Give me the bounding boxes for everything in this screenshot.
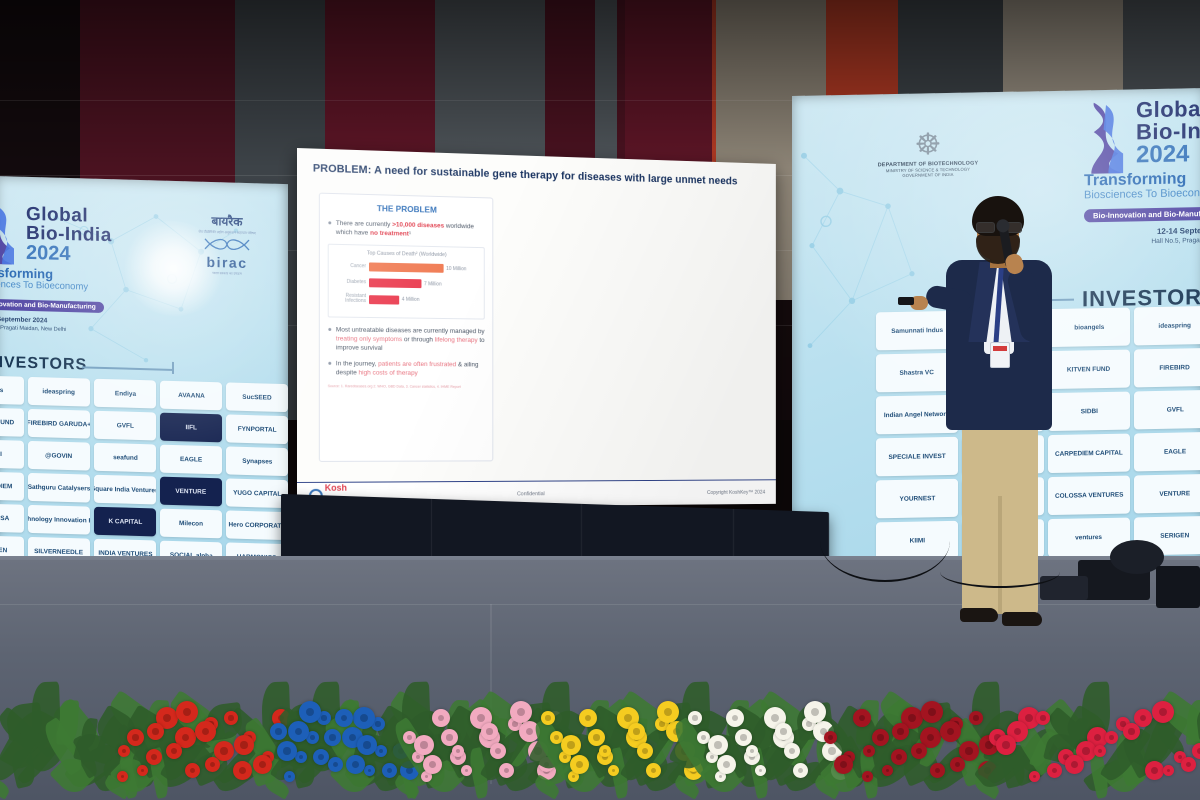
flower-bloom [146,749,162,765]
flower-bloom [510,701,532,723]
dna-helix-icon [201,235,253,254]
flower-bloom [147,723,164,740]
flower-arrangement [0,665,1200,800]
flower-bloom [414,735,434,755]
sponsor-logo-label: YUGO CAPITAL [232,488,282,498]
flower-bloom [891,749,907,765]
flower-bloom [579,709,597,727]
sponsor-logo-label: IIFL [184,423,197,432]
confidential-label: Confidential [347,490,707,498]
sponsor-logo-tile: GVFL [1134,390,1200,430]
sponsor-logo-tile: KITVEN FUND [0,407,24,437]
sponsor-logo-label: VENTURE [1159,489,1192,498]
flower-bloom [1123,723,1140,740]
flower-bloom [588,729,605,746]
flower-bloom [570,755,589,774]
flower-bloom [950,757,965,772]
sponsor-logo-label: Synapses [241,457,273,466]
flower-bloom [775,723,792,740]
sponsor-logo-tile: FYNPORTAL [226,414,288,444]
flower-bloom [452,745,464,757]
flower-bloom [270,723,287,740]
sponsor-logo-label: Endiya [114,389,137,398]
sponsor-logo-tile: seafund [94,443,156,473]
copyright-label: Copyright KoshKey™ 2024 [707,489,765,495]
sponsor-logo-label: Technology Innovation Hub [28,514,90,525]
flower-bloom [357,735,377,755]
flower-bloom [1181,757,1196,772]
flower-bloom [423,755,442,774]
sponsor-logo-tile: Technology Innovation Hub [28,505,90,535]
sponsor-logo-tile: angels [0,375,24,405]
flower-bed [980,680,1200,800]
stage-cable [820,500,950,582]
sponsor-logo-tile: VENTURE [160,477,222,507]
chart-bar-value: 7 Million [421,281,442,287]
sponsor-logo-tile: COLOSSA [0,503,24,533]
flower-bloom [882,765,893,776]
flower-bloom [608,765,619,776]
bullet-text-span: treating only symptoms [336,335,402,343]
flower-bloom [176,701,198,723]
sponsor-logo-label: FYNPORTAL [237,425,278,434]
gbi-year: 2024 [1136,140,1200,167]
sponsor-logo-label: COLOSSA [0,513,10,522]
sponsor-logo-tile: EAGLE [1134,432,1200,472]
sponsor-logo-label: SPECIALE INVEST [887,452,946,461]
sponsor-logo-tile: Hero CORPORATE [226,510,288,540]
flower-bloom [284,771,295,782]
flower-bloom [1145,761,1164,780]
gbi-logo-lockup-right: Global Bio-India 2024 Transforming Biosc… [1084,96,1200,246]
sponsor-logo-tile: CARPEDIEM [0,471,24,501]
bullet-dot-icon: ● [328,325,332,352]
sponsor-logo-label: AVAANA [177,391,205,400]
gbi-tagline-line2: Biosciences To Bioeconomy [1084,186,1200,202]
gbi-helix-icon [1084,100,1128,177]
flower-bloom [195,721,216,742]
flower-bloom [490,743,506,759]
flower-bloom [328,757,343,772]
chart-bar-value: 10 Million [443,266,466,272]
chart-bar-row: Diabetes7 Million [333,278,480,289]
problem-card: THE PROBLEM ● There are currently >10,00… [319,193,493,462]
flower-bloom [863,745,875,757]
slide-title: PROBLEM: A need for sustainable gene the… [313,163,762,189]
flower-bloom [127,729,144,746]
sponsor-logo-label: CARPEDIEM [0,481,13,490]
sponsor-logo-label: Samunnati Indus [890,326,944,335]
sponsor-logo-label: KITVEN FUND [0,417,16,427]
flower-bloom [335,709,353,727]
flower-bloom [1192,743,1200,759]
card-heading: THE PROBLEM [328,202,485,216]
projection-screen: PROBLEM: A need for sustainable gene the… [297,148,776,508]
flower-bloom [996,735,1016,755]
sponsor-logo-tile: ideaspring [28,377,90,407]
flower-bloom [862,771,873,782]
flower-bloom [324,729,341,746]
flower-bloom [824,731,837,744]
flower-bloom [353,707,375,729]
sponsor-logo-label: Square India Ventures [94,484,156,494]
flower-bloom [299,701,321,723]
bullet-item: ● There are currently >10,000 diseases w… [328,219,485,241]
auditorium-scene: Global Bio-India 2024 Transforming Biosc… [0,0,1200,800]
flower-bloom [166,743,182,759]
flower-bed [820,680,1000,800]
stage-cable [940,556,1060,588]
bullet-text-span: patients are often frustrated [378,361,456,369]
sponsor-logo-tile: Square India Ventures [94,475,156,505]
sponsor-logo-label: SucSEED [241,393,272,402]
flower-bloom [746,745,758,757]
sponsor-logo-tile: IIFL [160,413,222,443]
sponsor-logo-tile: YUGO CAPITAL [226,478,288,508]
speaker-badge [990,342,1010,368]
flower-bloom [911,743,927,759]
sponsor-logo-label: Hero CORPORATE [228,520,287,530]
sponsor-logo-label: VENTURE [175,487,208,496]
sponsor-logo-tile: K CAPITAL [94,507,156,537]
flower-bloom [137,765,148,776]
chart-bar [369,263,443,273]
flower-bloom [541,711,555,725]
bullet-text-span: There are currently [336,220,392,228]
flower-bloom [793,763,808,778]
flower-bloom [205,757,220,772]
sponsor-logo-tile: EAGLE [160,445,222,475]
flower-bloom [313,749,329,765]
sponsor-logo-label: Sathguru Catalysers [28,483,90,493]
flower-bloom [233,761,252,780]
sponsor-logo-tile: ideaspring [1134,306,1200,346]
causes-of-death-chart: Top Causes of Death² (Worldwide) Cancer1… [328,244,485,319]
flower-bloom [1047,763,1062,778]
birac-logo-left: बायरैक जैव प्रौद्योगिकी उद्योग अनुसंधान … [182,211,272,277]
sponsor-logo-label: FIREBIRD GARUDA+ [28,419,90,429]
gbi-pill-right: Bio-Innovation and Bio-Manufacturing [1084,207,1200,223]
flower-bloom [118,745,130,757]
sponsor-logo-label: EAGLE [179,455,203,464]
flower-bloom [1029,771,1040,782]
bullet-text-span: or through [402,336,435,343]
flower-bloom [481,723,498,740]
flower-bloom [930,763,945,778]
flower-bloom [382,763,397,778]
flower-bloom [461,765,472,776]
flower-bloom [1163,765,1174,776]
flower-bloom [277,741,297,761]
flower-bloom [288,721,309,742]
banner-left: Global Bio-India 2024 Transforming Biosc… [0,176,288,604]
sponsor-logo-label: FIREBIRD [1159,363,1191,372]
sponsor-logo-label: ideaspring [1158,321,1192,330]
flower-bloom [872,729,889,746]
flower-bloom [755,765,766,776]
flower-bloom [892,723,909,740]
flower-bloom [441,729,458,746]
sponsor-logo-tile: AVAANA [160,381,222,411]
presentation-clicker [898,297,914,305]
chart-bar-row: Cancer10 Million [333,262,480,274]
sponsor-logo-label: Milecon [178,519,204,528]
flower-bloom [717,755,736,774]
speaker-shoe-right [1002,612,1042,626]
sponsor-logo-label: SERIGEN [0,545,8,554]
stage-equipment [1156,566,1200,608]
flower-bloom [1105,731,1118,744]
bullet-text-span: ¹ [409,231,411,238]
dbt-emblem-block: ☸ DEPARTMENT OF BIOTECHNOLOGY MINISTRY O… [848,130,1008,179]
flower-bloom [561,735,581,755]
chart-bar-value: 4 Million [399,297,420,303]
source-note: Source: 1. Rarediseases.org 2. WHO, GBD … [328,384,485,389]
speaker-shoe-left [960,608,998,622]
sponsor-logo-tile: Endiya [94,379,156,409]
sponsor-logo-tile: Sathguru Catalysers [28,473,90,503]
speaker-trouser-seam [998,496,1002,614]
flower-bloom [726,709,744,727]
flower-bloom [834,755,853,774]
flower-bloom [364,765,375,776]
chart-bar-label: Cancer [333,264,369,270]
flower-bloom [735,729,752,746]
gbi-pill-left: Bio-Innovation and Bio-Manufacturing [0,298,104,313]
sponsor-logo-tile: FIREBIRD GARUDA+ [28,409,90,439]
flower-bloom [346,755,365,774]
sponsor-logo-label: K CAPITAL [107,517,143,526]
bullet-text-span: lifelong therapy [435,336,478,343]
flower-bloom [708,735,728,755]
flower-bloom [628,723,645,740]
bullet-dot-icon: ● [328,359,332,377]
sponsor-logo-label: bioangels [1073,323,1105,332]
sponsor-logo-label: SIDBI [1079,407,1098,416]
sponsor-logo-label: KITVEN FUND [1066,365,1111,374]
sponsor-logo-label: seafund [112,453,139,462]
bullet-text-span: >10,000 diseases [392,221,444,229]
sponsor-logo-label: GVFL [115,421,134,430]
gbi-helix-icon [0,204,18,267]
sponsor-logo-tile: Synapses [226,446,288,476]
flower-bloom [1036,711,1050,725]
bullet-text: There are currently >10,000 diseases wor… [336,219,485,241]
sponsor-logo-tile: VENTURE [1134,474,1200,514]
bullet-text-span: high costs of therapy [359,370,418,377]
sponsor-logo-label: EAGLE [1163,447,1187,456]
sponsor-logo-label: SIDBI [0,450,3,459]
flower-bloom [1152,701,1174,723]
flower-bloom [499,763,514,778]
sponsor-logo-tile: @GOVIN [28,441,90,471]
sponsor-logo-tile: SIDBI [0,439,24,469]
speaker-presenter [940,196,1070,676]
gbi-title-line2: Bio-India [1136,118,1200,143]
chart-bar-label: Resistant Infections [333,294,369,305]
flower-bloom [921,701,943,723]
flower-bloom [784,743,800,759]
sponsor-logo-tile: FIREBIRD [1134,348,1200,388]
flower-bloom [940,721,961,742]
flower-bloom [599,745,611,757]
flower-bloom [234,735,254,755]
flower-bloom [646,763,661,778]
flower-bloom [117,771,128,782]
sponsor-logo-tile: SucSEED [226,382,288,412]
flower-bed [110,680,290,800]
chart-bar-row: Resistant Infections4 Million [333,294,480,307]
sponsor-logo-label: @GOVIN [45,451,74,460]
chart-title: Top Causes of Death² (Worldwide) [333,250,480,259]
koshkey-word1: Kosh [325,482,347,492]
flower-bloom [657,701,679,723]
sponsor-logo-tile: GVFL [94,411,156,441]
flower-bloom [1094,745,1106,757]
bullet-text: Most untreatable diseases are currently … [336,325,485,354]
sponsor-logo-tile: Milecon [160,509,222,539]
sponsor-logo-label: GVFL [1165,405,1184,414]
bullet-text-span: Most untreatable diseases are currently … [336,326,485,335]
gbi-dates-right: 12-14 September [1084,225,1200,238]
bullet-item: ● Most untreatable diseases are currentl… [328,325,485,354]
investors-heading-left: INVESTORS [0,354,87,375]
chart-bar [369,279,421,289]
sponsor-logo-label: ideaspring [42,387,76,396]
flower-bloom [1065,755,1084,774]
sponsor-logo-label: Shastra VC [899,368,935,377]
chart-bars: Cancer10 MillionDiabetes7 MillionResista… [333,262,480,307]
sponsor-logo-label: angels [0,385,4,394]
flower-bloom [637,743,653,759]
bullet-item: ● In the journey, patients are often fru… [328,359,485,378]
bullet-text-span: In the journey, [336,360,378,367]
presentation-slide: PROBLEM: A need for sustainable gene the… [297,148,776,508]
flower-bloom [853,709,871,727]
flower-bloom [224,711,238,725]
sponsor-logo-label: ventures [1075,533,1104,542]
flower-bloom [688,711,702,725]
flower-bloom [185,763,200,778]
chart-bar [369,295,399,304]
ashoka-emblem-icon: ☸ [848,130,1008,160]
sponsor-logo-label: SERIGEN [1160,531,1191,540]
bullet-text: In the journey, patients are often frust… [336,359,485,378]
bullet-text-span: no treatment [370,230,409,238]
flower-bloom [432,709,450,727]
bullet-dot-icon: ● [328,219,332,237]
chart-bar-label: Diabetes [333,280,369,286]
